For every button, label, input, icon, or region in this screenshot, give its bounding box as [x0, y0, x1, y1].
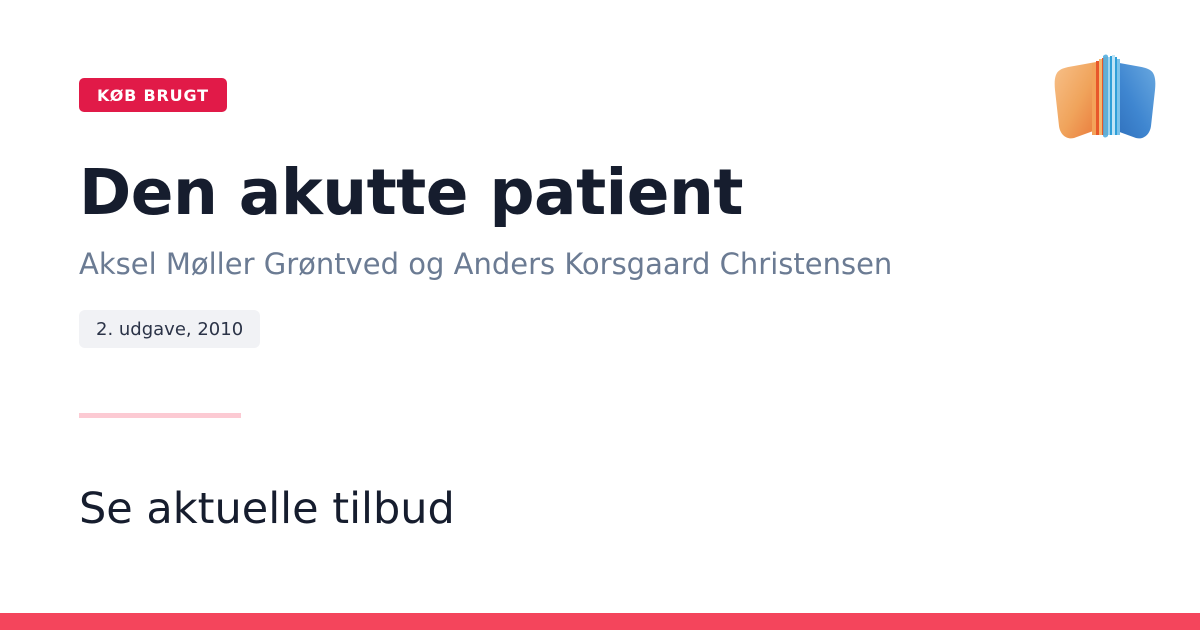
edition-chip: 2. udgave, 2010: [79, 310, 260, 348]
book-authors: Aksel Møller Grøntved og Anders Korsgaar…: [79, 245, 892, 283]
book-promo-card: KØB BRUGT Den akutte patient Aksel Mølle…: [0, 0, 1200, 630]
status-badge: KØB BRUGT: [79, 78, 227, 112]
page-title: Den akutte patient: [79, 155, 743, 231]
open-book-logo-icon: [1050, 48, 1160, 163]
cta-link[interactable]: Se aktuelle tilbud: [79, 482, 455, 536]
site-logo[interactable]: [1050, 48, 1160, 163]
bottom-accent-bar: [0, 613, 1200, 630]
divider: [79, 413, 241, 418]
